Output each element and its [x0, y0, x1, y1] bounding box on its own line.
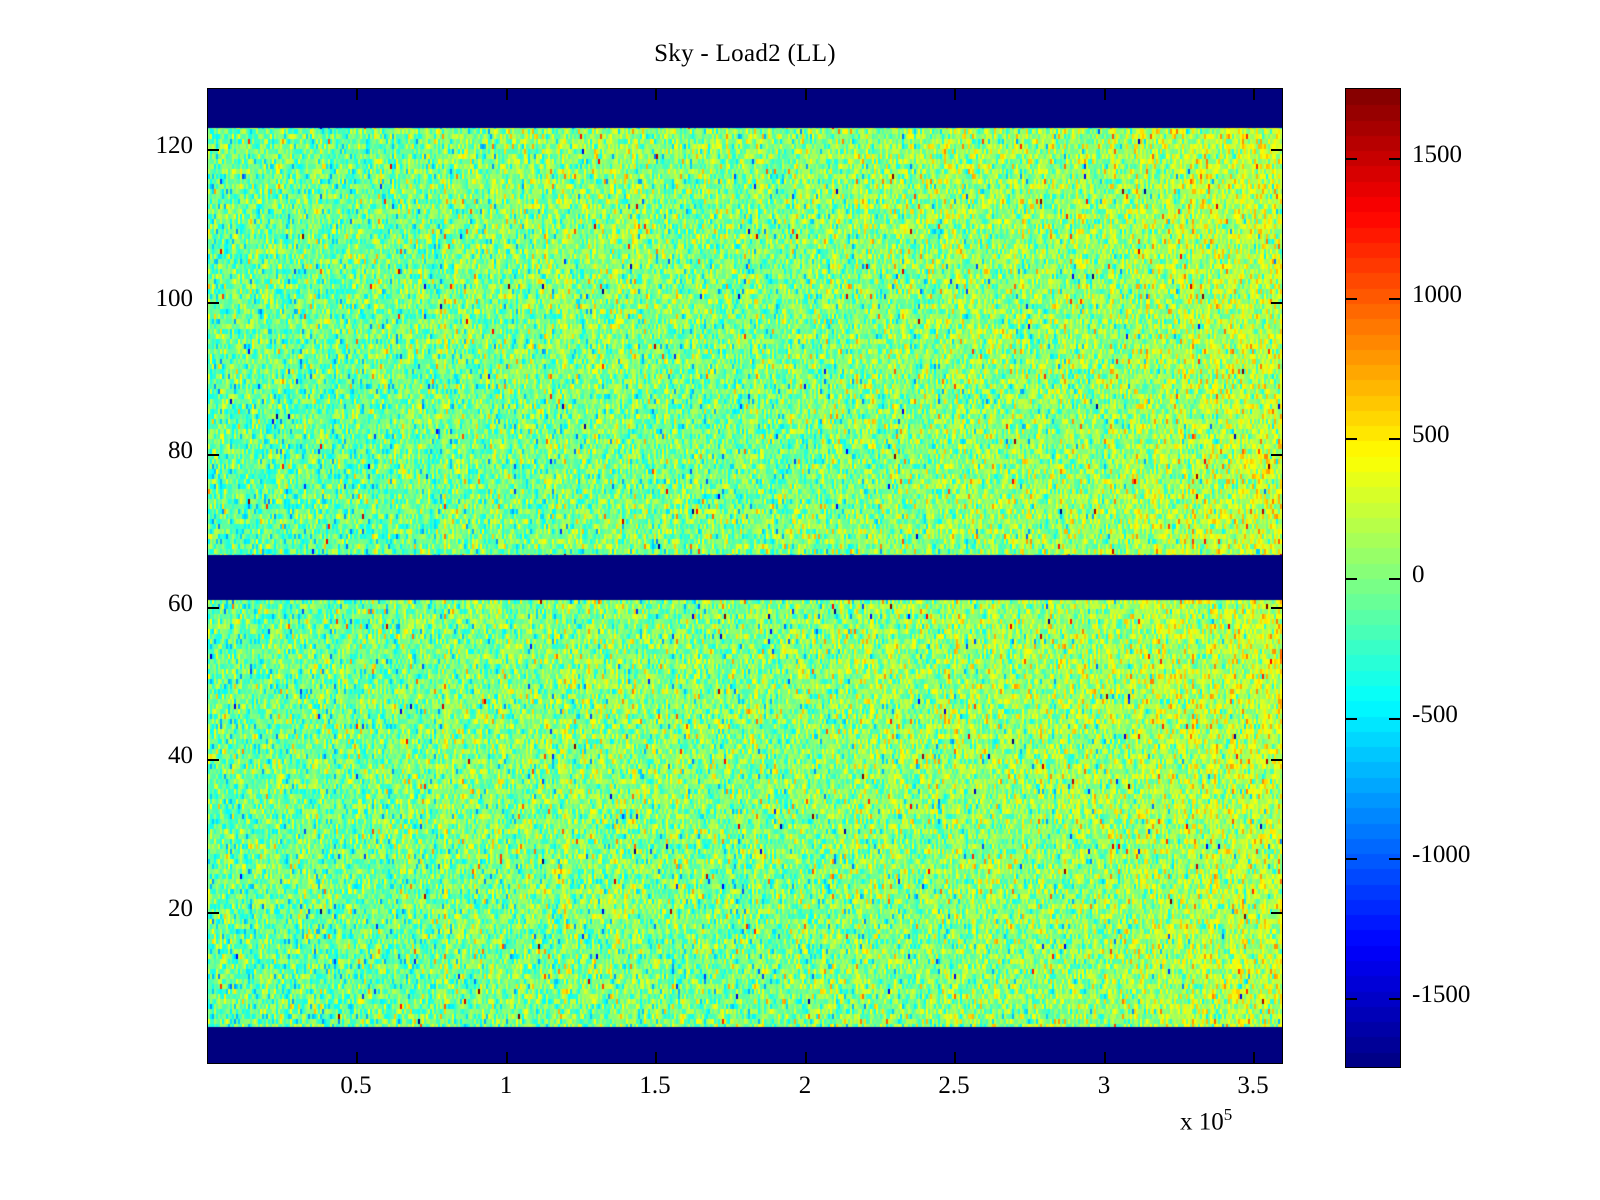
y-axis-tick-label: 60	[103, 590, 193, 618]
x-multiplier-base: x 10	[1180, 1108, 1224, 1135]
x-axis-tick	[1253, 1052, 1255, 1063]
y-axis-tick-label: 100	[103, 285, 193, 313]
y-axis-tick	[1271, 912, 1282, 914]
x-axis-tick	[1104, 89, 1106, 100]
x-axis-tick-label: 3	[1044, 1072, 1164, 1100]
x-axis-tick	[805, 1052, 807, 1063]
x-axis-tick-label: 2	[745, 1072, 865, 1100]
heatmap-axes[interactable]	[207, 88, 1283, 1064]
y-axis-tick	[208, 302, 219, 304]
x-axis-tick-label: 3.5	[1193, 1072, 1313, 1100]
colorbar-tick-label: -500	[1412, 701, 1458, 729]
x-axis-tick	[954, 89, 956, 100]
x-axis-tick-label: 2.5	[894, 1072, 1014, 1100]
colorbar-tick	[1346, 578, 1357, 580]
x-multiplier-exponent: 5	[1224, 1105, 1233, 1124]
y-axis-tick	[1271, 149, 1282, 151]
colorbar-tick	[1346, 998, 1357, 1000]
colorbar-tick	[1389, 858, 1400, 860]
x-axis-tick	[356, 89, 358, 100]
colorbar-tick	[1389, 998, 1400, 1000]
colorbar-tick	[1389, 578, 1400, 580]
x-axis-tick	[506, 89, 508, 100]
colorbar-tick-label: 1000	[1412, 281, 1462, 309]
y-axis-tick	[208, 912, 219, 914]
colorbar-tick	[1346, 158, 1357, 160]
colorbar-tick	[1389, 158, 1400, 160]
y-axis-tick	[1271, 607, 1282, 609]
x-axis-tick	[356, 1052, 358, 1063]
colorbar-tick	[1346, 438, 1357, 440]
y-axis-tick-label: 20	[103, 895, 193, 923]
y-axis-tick	[208, 759, 219, 761]
colorbar-tick	[1389, 438, 1400, 440]
x-axis-multiplier-label: x 105	[1180, 1105, 1232, 1136]
colorbar-tick-label: 0	[1412, 561, 1425, 589]
colorbar-tick-label: 1500	[1412, 141, 1462, 169]
y-axis-tick	[208, 149, 219, 151]
colorbar-tick-label: 500	[1412, 421, 1450, 449]
colorbar-tick	[1346, 298, 1357, 300]
heatmap-image	[208, 89, 1283, 1064]
x-axis-tick-label: 1	[446, 1072, 566, 1100]
figure-canvas: Sky - Load2 (LL) 20406080100120 0.511.52…	[0, 0, 1600, 1200]
chart-title: Sky - Load2 (LL)	[207, 40, 1283, 68]
colorbar[interactable]	[1345, 88, 1401, 1068]
y-axis-tick	[208, 454, 219, 456]
x-axis-tick	[805, 89, 807, 100]
x-axis-tick	[655, 1052, 657, 1063]
colorbar-tick	[1389, 718, 1400, 720]
colorbar-tick-label: -1500	[1412, 981, 1470, 1009]
y-axis-tick	[1271, 759, 1282, 761]
colorbar-tick	[1389, 298, 1400, 300]
y-axis-tick-label: 120	[103, 132, 193, 160]
y-axis-tick	[1271, 454, 1282, 456]
colorbar-tick-label: -1000	[1412, 841, 1470, 869]
colorbar-tick	[1346, 718, 1357, 720]
y-axis-tick	[1271, 302, 1282, 304]
y-axis-tick-label: 80	[103, 437, 193, 465]
x-axis-tick	[506, 1052, 508, 1063]
y-axis-tick	[208, 607, 219, 609]
x-axis-tick-label: 1.5	[595, 1072, 715, 1100]
y-axis-tick-label: 40	[103, 742, 193, 770]
x-axis-tick-label: 0.5	[296, 1072, 416, 1100]
x-axis-tick	[1104, 1052, 1106, 1063]
x-axis-tick	[954, 1052, 956, 1063]
colorbar-tick	[1346, 858, 1357, 860]
x-axis-tick	[1253, 89, 1255, 100]
x-axis-tick	[655, 89, 657, 100]
